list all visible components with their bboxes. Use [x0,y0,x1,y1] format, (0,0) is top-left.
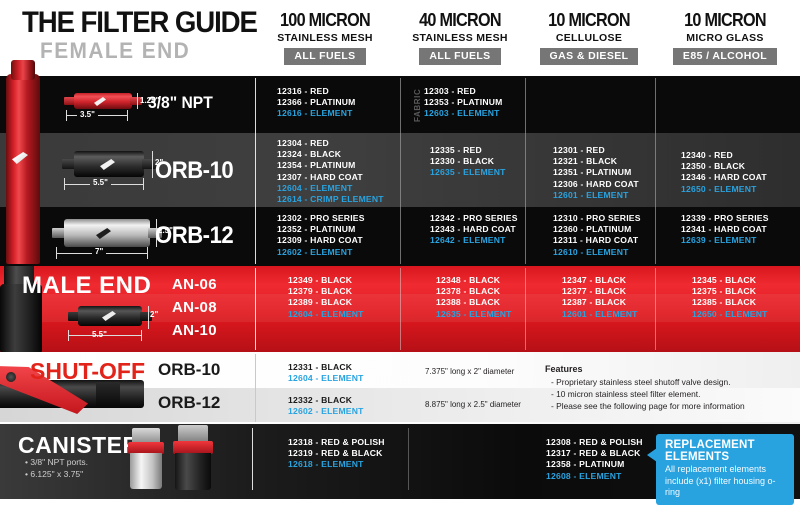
part-number: 12346 - HARD COAT [681,172,767,183]
part-number: 12301 - RED [553,145,639,156]
orb10-diameter-dimension-line [152,151,153,178]
part-number: 12639 - ELEMENT [681,235,769,246]
part-number: 12330 - BLACK [430,156,506,167]
cell-orb12-c4: 12339 - PRO SERIES12341 - HARD COAT12639… [681,213,769,247]
divider-male-col2 [525,268,526,350]
callout-title: REPLACEMENT ELEMENTS [665,439,786,463]
canister-bullet-1: • 3/8" NPT ports. [25,457,88,467]
size-label-orb10-shutoff: ORB-10 [158,360,220,380]
cell-orb12-c1: 12302 - PRO SERIES12352 - PLATINUM12309 … [277,213,365,258]
part-number: 12387 - BLACK [562,297,638,308]
divider-male-col1 [400,268,401,350]
part-number: 12642 - ELEMENT [430,235,518,246]
part-number: 12349 - BLACK [288,275,364,286]
male-dim-tick-right [141,330,142,341]
part-number: 12316 - RED [277,86,356,97]
part-number: 12339 - PRO SERIES [681,213,769,224]
column-4-micron: 10 MICRON [667,10,784,31]
part-number: 12311 - HARD COAT [553,235,641,246]
orb12-dim-tick-right [147,247,148,259]
divider-col2 [525,78,526,264]
part-number: 12601 - ELEMENT [553,190,639,201]
part-number: 12350 - BLACK [681,161,767,172]
part-number: 12347 - BLACK [562,275,638,286]
canister-bullet-2: • 6.125" x 3.75" [25,469,83,479]
part-number: 12389 - BLACK [288,297,364,308]
column-4-fuel-chip: E85 / ALCOHOL [673,48,777,65]
part-number: 12604 - ELEMENT [288,373,364,384]
part-number: 12352 - PLATINUM [277,224,365,235]
part-number: 12614 - CRIMP ELEMENT [277,194,384,205]
size-label-orb12-female: ORB-12 [155,222,233,250]
column-1-micron: 100 MICRON [271,10,379,31]
cell-orb10-c3: 12301 - RED12321 - BLACK12351 - PLATINUM… [553,145,639,201]
divider-canister-col2 [408,428,409,490]
features-title: Features [545,364,583,374]
part-number: 12341 - HARD COAT [681,224,769,235]
part-number: 12348 - BLACK [436,275,512,286]
part-number: 12635 - ELEMENT [436,309,512,320]
part-number: 12351 - PLATINUM [553,167,639,178]
orb10-filter-art [62,150,157,178]
feature-line-2: - 10 micron stainless steel filter eleme… [551,389,700,399]
part-number: 12340 - RED [681,150,767,161]
part-number: 12343 - HARD COAT [430,224,518,235]
callout-body: All replacement elements include (x1) fi… [665,464,786,499]
header: THE FILTER GUIDE FEMALE END 100 MICRON S… [0,0,800,76]
part-number: 12603 - ELEMENT [424,108,503,119]
divider-canister-col0 [252,428,253,490]
part-number: 12604 - ELEMENT [277,183,384,194]
part-number: 12375 - BLACK [692,286,768,297]
part-number: 12318 - RED & POLISH [288,437,385,448]
part-number: 12324 - BLACK [277,149,384,160]
part-number: 12635 - ELEMENT [430,167,506,178]
orb10-dim-tick-right [143,178,144,190]
size-label-npt: 3/8" NPT [148,93,213,113]
cell-orb12-c2: 12342 - PRO SERIES12343 - HARD COAT12642… [430,213,518,247]
cell-shutoff-r2: 12332 - BLACK12602 - ELEMENT [288,395,364,417]
cell-canister-c3: 12308 - RED & POLISH12317 - RED & BLACK1… [546,437,643,482]
part-number: 12604 - ELEMENT [288,309,364,320]
cell-male-c1: 12349 - BLACK12379 - BLACK12389 - BLACK1… [288,275,364,320]
section-title-canister: CANISTER [18,432,140,459]
part-number: 12319 - RED & BLACK [288,448,385,459]
part-number: 12608 - ELEMENT [546,471,643,482]
column-3-micron: 10 MICRON [534,10,644,31]
column-1-fuel-chip: ALL FUELS [284,48,365,65]
size-label-an10: AN-10 [172,322,217,339]
column-2-media: STAINLESS MESH [400,32,520,44]
npt-diameter-dimension-line [137,93,138,109]
column-3-media: CELLULOSE [528,32,650,44]
divider-col1 [400,78,401,264]
orb12-length-label: 7" [92,247,106,256]
cell-orb10-c2: 12335 - RED12330 - BLACK12635 - ELEMENT [430,145,506,179]
cell-npt-c2: 12303 - RED12353 - PLATINUM12603 - ELEME… [424,86,503,120]
column-1-media: STAINLESS MESH [265,32,385,44]
column-4-media: MICRO GLASS [660,32,790,44]
size-label-an06: AN-06 [172,276,217,293]
male-diameter-dimension-line [148,306,149,329]
section-title-shut-off: SHUT-OFF [30,358,145,385]
size-label-an08: AN-08 [172,299,217,316]
cell-canister-c1: 12318 - RED & POLISH12319 - RED & BLACK1… [288,437,385,471]
page-title: THE FILTER GUIDE [22,6,257,40]
part-number: 12650 - ELEMENT [681,184,767,195]
orb12-filter-art [52,218,164,248]
part-number: 12307 - HARD COAT [277,172,384,183]
part-number: 12317 - RED & BLACK [546,448,643,459]
male-diameter-label: 2" [150,310,158,319]
canister-polish-art [126,428,166,490]
orb10-dim-tick-left [64,178,65,190]
part-number: 12358 - PLATINUM [546,459,643,470]
size-label-orb10-female: ORB-10 [155,157,233,185]
fabric-note: FABRIC [413,89,422,122]
part-number: 12302 - PRO SERIES [277,213,365,224]
cell-orb10-c1: 12304 - RED12324 - BLACK12354 - PLATINUM… [277,138,384,205]
shutoff-dim-orb10: 7.375" long x 2" diameter [425,367,514,376]
part-number: 12385 - BLACK [692,297,768,308]
shutoff-dim-orb12: 8.875" long x 2.5" diameter [425,400,521,409]
male-length-label: 5.5" [92,330,107,339]
part-number: 12321 - BLACK [553,156,639,167]
part-number: 12616 - ELEMENT [277,108,356,119]
section-title-female-end: FEMALE END [40,38,190,64]
part-number: 12332 - BLACK [288,395,364,406]
part-number: 12388 - BLACK [436,297,512,308]
part-number: 12310 - PRO SERIES [553,213,641,224]
feature-line-3: - Please see the following page for more… [551,401,745,411]
part-number: 12378 - BLACK [436,286,512,297]
part-number: 12335 - RED [430,145,506,156]
part-number: 12377 - BLACK [562,286,638,297]
part-number: 12309 - HARD COAT [277,235,365,246]
npt-dim-tick-left [66,110,67,121]
cell-orb12-c3: 12310 - PRO SERIES12360 - PLATINUM12311 … [553,213,641,258]
column-2-micron: 40 MICRON [406,10,514,31]
part-number: 12601 - ELEMENT [562,309,638,320]
size-label-orb12-shutoff: ORB-12 [158,393,220,413]
cell-male-c4: 12345 - BLACK12375 - BLACK12385 - BLACK1… [692,275,768,320]
red-fitting-art [0,60,46,267]
male-dim-tick-left [68,330,69,341]
part-number: 12345 - BLACK [692,275,768,286]
part-number: 12342 - PRO SERIES [430,213,518,224]
cell-male-c3: 12347 - BLACK12377 - BLACK12387 - BLACK1… [562,275,638,320]
part-number: 12602 - ELEMENT [277,247,365,258]
male-end-filter-art [68,305,156,327]
part-number: 12610 - ELEMENT [553,247,641,258]
cell-male-c2: 12348 - BLACK12378 - BLACK12388 - BLACK1… [436,275,512,320]
part-number: 12304 - RED [277,138,384,149]
orb12-dim-tick-left [56,247,57,259]
divider-col3 [655,78,656,264]
part-number: 12306 - HARD COAT [553,179,639,190]
divider-male-col0 [255,268,256,350]
part-number: 12303 - RED [424,86,503,97]
feature-line-1: - Proprietary stainless steel shutoff va… [551,377,731,387]
cell-orb10-c4: 12340 - RED12350 - BLACK12346 - HARD COA… [681,150,767,195]
column-header-4: 10 MICRON MICRO GLASS E85 / ALCOHOL [660,10,790,65]
divider-male-col3 [655,268,656,350]
npt-dim-tick-right [127,110,128,121]
divider-shutoff-col0 [255,354,256,422]
cell-shutoff-r1: 12331 - BLACK12604 - ELEMENT [288,362,364,384]
orb10-length-label: 5.5" [90,178,111,187]
column-header-1: 100 MICRON STAINLESS MESH ALL FUELS [265,10,385,65]
part-number: 12354 - PLATINUM [277,160,384,171]
part-number: 12331 - BLACK [288,362,364,373]
replacement-elements-callout: REPLACEMENT ELEMENTS All replacement ele… [656,434,794,505]
cell-npt-c1: 12316 - RED12366 - PLATINUM12616 - ELEME… [277,86,356,120]
filter-guide-sheet: THE FILTER GUIDE FEMALE END 100 MICRON S… [0,0,800,499]
part-number: 12618 - ELEMENT [288,459,385,470]
column-header-2: 40 MICRON STAINLESS MESH ALL FUELS [400,10,520,65]
npt-filter-art [64,92,144,110]
part-number: 12366 - PLATINUM [277,97,356,108]
part-number: 12379 - BLACK [288,286,364,297]
column-3-fuel-chip: GAS & DIESEL [540,48,639,65]
canister-black-art [172,425,216,491]
part-number: 12308 - RED & POLISH [546,437,643,448]
part-number: 12360 - PLATINUM [553,224,641,235]
part-number: 12602 - ELEMENT [288,406,364,417]
column-2-fuel-chip: ALL FUELS [419,48,500,65]
part-number: 12650 - ELEMENT [692,309,768,320]
section-title-male-end: MALE END [22,272,151,300]
divider-col0 [255,78,256,264]
part-number: 12353 - PLATINUM [424,97,503,108]
npt-length-label: 3.5" [77,110,98,119]
column-header-3: 10 MICRON CELLULOSE GAS & DIESEL [528,10,650,65]
